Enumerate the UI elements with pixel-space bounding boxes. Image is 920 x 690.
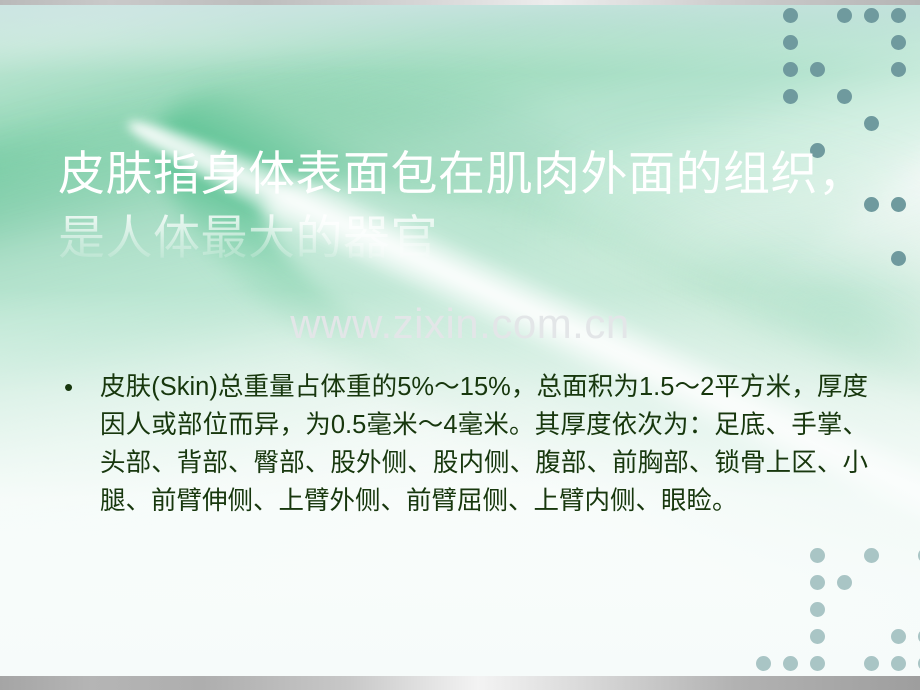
- decorative-dot: [783, 62, 798, 77]
- decorative-dot: [837, 575, 852, 590]
- decorative-dot: [756, 656, 771, 671]
- background-top-haze: [0, 0, 920, 74]
- decorative-dot: [891, 62, 906, 77]
- decorative-dot: [810, 629, 825, 644]
- slide-canvas: 皮肤指身体表面包在肌肉外面的组织，是人体最大的器官 www.zixin.com.…: [0, 0, 920, 690]
- decorative-dot: [864, 548, 879, 563]
- body-bullet-list: • 皮肤(Skin)总重量占体重的5%～15%，总面积为1.5～2平方米，厚度因…: [56, 368, 868, 520]
- decorative-dot: [864, 656, 879, 671]
- decorative-dot: [891, 629, 906, 644]
- decorative-dot: [783, 656, 798, 671]
- body-paragraph: 皮肤(Skin)总重量占体重的5%～15%，总面积为1.5～2平方米，厚度因人或…: [100, 368, 868, 520]
- decorative-dot: [783, 35, 798, 50]
- decorative-dot: [891, 656, 906, 671]
- decorative-dot: [810, 548, 825, 563]
- decorative-dot: [810, 602, 825, 617]
- decorative-dot: [783, 8, 798, 23]
- bullet-marker-icon: •: [56, 368, 100, 406]
- decorative-dot: [810, 656, 825, 671]
- decorative-dot: [837, 8, 852, 23]
- decorative-dot: [891, 197, 906, 212]
- decorative-dot: [864, 116, 879, 131]
- decorative-dot: [810, 575, 825, 590]
- watermark-url: www.zixin.com.cn: [0, 300, 920, 348]
- decorative-dot: [891, 8, 906, 23]
- decorative-dot: [891, 251, 906, 266]
- decorative-dot: [891, 35, 906, 50]
- decorative-dot: [810, 62, 825, 77]
- slide-title: 皮肤指身体表面包在肌肉外面的组织，是人体最大的器官: [58, 142, 868, 270]
- decorative-dot: [783, 89, 798, 104]
- decorative-dot: [837, 89, 852, 104]
- decorative-dot: [864, 8, 879, 23]
